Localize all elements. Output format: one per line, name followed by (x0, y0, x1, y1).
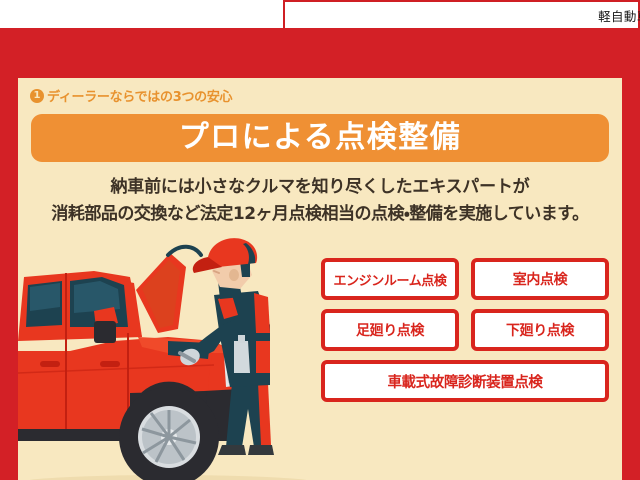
section-eyebrow: 1 ディーラーならではの3つの安心 (30, 86, 232, 105)
circled-number-icon: 1 (30, 89, 44, 103)
red-outer-frame: 1 ディーラーならではの3つの安心 プロによる点検整備 納車前には小さなクルマを… (0, 28, 640, 480)
content-panel: 1 ディーラーならではの3つの安心 プロによる点検整備 納車前には小さなクルマを… (18, 78, 622, 480)
inspection-row-2: 足廻り点検 下廻り点検 (321, 309, 609, 351)
headline-banner: プロによる点検整備 (31, 114, 609, 162)
check-underbody-chip[interactable]: 下廻り点検 (471, 309, 609, 351)
check-obd-chip[interactable]: 車載式故障診断装置点検 (321, 360, 609, 402)
check-suspension-chip[interactable]: 足廻り点検 (321, 309, 459, 351)
inspection-items-grid: エンジンルーム点検 室内点検 足廻り点検 下廻り点検 車載式故障診断装置点検 (321, 258, 609, 411)
body-copy-line-1: 納車前には小さなクルマを知り尽くしたエキスパートが (31, 174, 609, 201)
inspection-row-3: 車載式故障診断装置点検 (321, 360, 609, 402)
check-engine-room-chip[interactable]: エンジンルーム点検 (321, 258, 459, 300)
inspection-row-1: エンジンルーム点検 室内点検 (321, 258, 609, 300)
mechanic-inspecting-red-car-illustration (18, 233, 318, 480)
advertisement-screenshot: 軽自動車・小型車のことなら、ダイハツ広島販売まで DAIHATSU ダイハツ広島… (0, 0, 640, 480)
headline-text: プロによる点検整備 (179, 123, 462, 153)
brand-tagline: 軽自動車・小型車のことなら、ダイハツ広島販売まで (576, 7, 640, 27)
check-interior-chip[interactable]: 室内点検 (471, 258, 609, 300)
section-eyebrow-label: ディーラーならではの3つの安心 (47, 86, 232, 105)
body-copy-line-2: 消耗部品の交換など法定12ヶ月点検相当の点検・整備を実施しています。 (31, 201, 609, 228)
body-copy: 納車前には小さなクルマを知り尽くしたエキスパートが 消耗部品の交換など法定12ヶ… (31, 174, 609, 228)
